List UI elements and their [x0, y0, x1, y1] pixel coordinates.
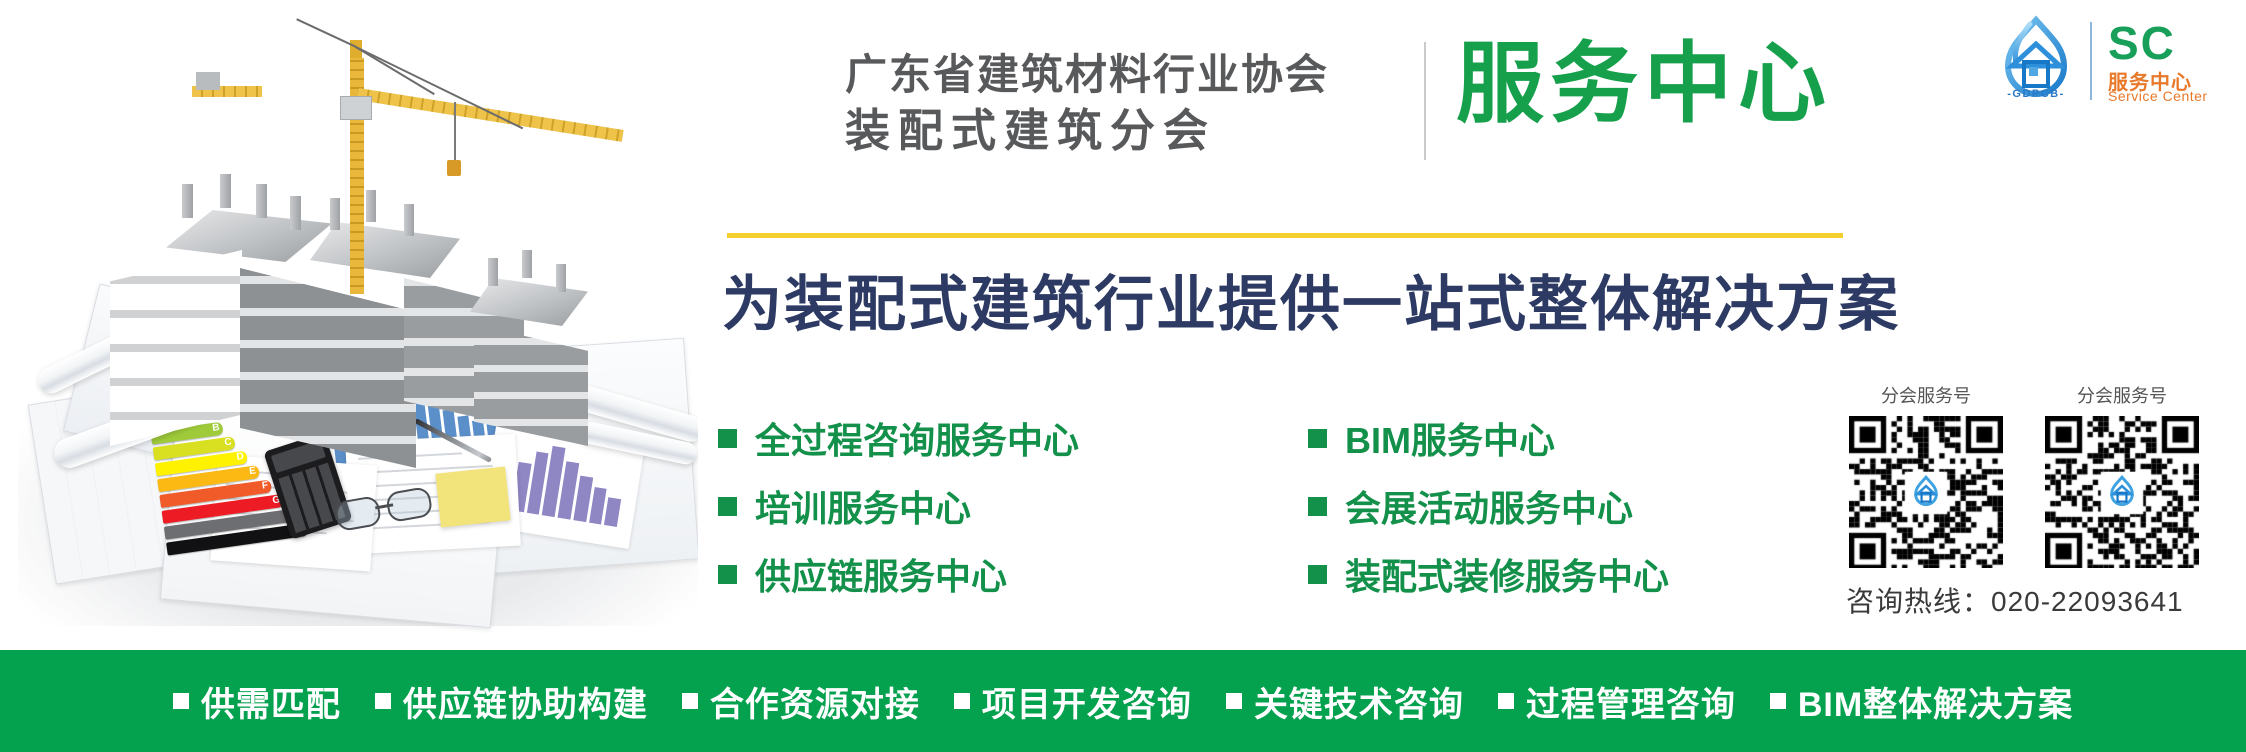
yellow-divider — [727, 233, 1843, 238]
hotline-text: 咨询热线：020-22093641 — [1846, 580, 2236, 620]
bullet-square-icon — [1498, 693, 1514, 709]
qr-code-right[interactable] — [2045, 416, 2199, 568]
tagline: 为装配式建筑行业提供一站式整体解决方案 — [722, 256, 1900, 343]
qr-caption-left: 分会服务号 — [1846, 382, 2006, 408]
energy-label-letter: E — [248, 464, 256, 478]
bottom-item-5[interactable]: 过程管理咨询 — [1498, 677, 1736, 726]
bottom-item-4[interactable]: 关键技术咨询 — [1226, 677, 1464, 726]
bottom-item-label: 关键技术咨询 — [1254, 677, 1464, 726]
crane-jib — [357, 88, 624, 142]
construction-photo: A B C D E F G H I — [18, 8, 698, 644]
bottom-item-6[interactable]: BIM整体解决方案 — [1770, 677, 2073, 726]
mini-bar — [604, 497, 621, 527]
service-item-label: BIM服务中心 — [1345, 412, 1555, 464]
qr-section: 分会服务号 分会服务号 — [1846, 382, 2236, 620]
bottom-item-2[interactable]: 合作资源对接 — [682, 677, 920, 726]
title-divider — [1424, 42, 1426, 160]
qr-code-left[interactable] — [1849, 416, 2003, 568]
bullet-square-icon — [1226, 693, 1242, 709]
bottom-item-3[interactable]: 项目开发咨询 — [954, 677, 1192, 726]
bottom-item-label: 过程管理咨询 — [1526, 677, 1736, 726]
service-item-label: 供应链服务中心 — [755, 548, 1007, 600]
sc-english-label: Service Center — [2108, 88, 2208, 104]
bottom-item-label: 项目开发咨询 — [982, 677, 1192, 726]
service-center-title: 服务中心 — [1456, 38, 1832, 130]
bullet-square-icon — [1770, 693, 1786, 709]
service-item-3[interactable]: 会展活动服务中心 — [1308, 480, 1798, 532]
qr-center-logo-icon — [2102, 472, 2142, 512]
bullet-square-icon — [718, 429, 737, 448]
service-item-4[interactable]: 供应链服务中心 — [718, 548, 1308, 600]
bullet-square-icon — [1308, 429, 1327, 448]
service-item-label: 会展活动服务中心 — [1345, 480, 1633, 532]
sticky-note — [435, 466, 510, 527]
bottom-keyword-bar: 供需匹配 供应链协助构建 合作资源对接 项目开发咨询 关键技术咨询 过程管理咨询… — [0, 650, 2246, 752]
association-title: 广东省建筑材料行业协会 装配式建筑分会 — [845, 48, 1505, 159]
qr-block-right: 分会服务号 — [2042, 382, 2202, 568]
bottom-item-label: 供应链协助构建 — [403, 677, 648, 726]
gdpcb-wordmark: -GDPCB- — [1990, 88, 2082, 100]
service-item-2[interactable]: 培训服务中心 — [718, 480, 1308, 532]
bottom-item-label: 合作资源对接 — [710, 677, 920, 726]
crane-hook — [447, 160, 461, 176]
association-line1: 广东省建筑材料行业协会 — [845, 48, 1505, 102]
logo-divider — [2090, 22, 2092, 100]
tower-crane — [254, 24, 654, 294]
brand-logo: -GDPCB- SC 服务中心 Service Center — [1990, 12, 2238, 108]
bottom-item-0[interactable]: 供需匹配 — [173, 677, 341, 726]
qr-caption-right: 分会服务号 — [2042, 382, 2202, 408]
banner-root: A B C D E F G H I — [0, 0, 2246, 752]
bullet-square-icon — [718, 497, 737, 516]
service-item-label: 培训服务中心 — [755, 480, 971, 532]
service-list: 全过程咨询服务中心 BIM服务中心 培训服务中心 会展活动服务中心 供应链服务中… — [718, 404, 1798, 608]
sc-wordmark: SC — [2108, 20, 2176, 66]
bullet-square-icon — [1308, 565, 1327, 584]
bullet-square-icon — [954, 693, 970, 709]
bottom-item-label: BIM整体解决方案 — [1798, 677, 2073, 726]
bottom-item-label: 供需匹配 — [201, 677, 341, 726]
bullet-square-icon — [173, 693, 189, 709]
service-item-1[interactable]: BIM服务中心 — [1308, 412, 1798, 464]
service-item-label: 装配式装修服务中心 — [1345, 548, 1669, 600]
service-item-5[interactable]: 装配式装修服务中心 — [1308, 548, 1798, 600]
service-item-label: 全过程咨询服务中心 — [755, 412, 1079, 464]
qr-center-logo-icon — [1906, 472, 1946, 512]
bullet-square-icon — [682, 693, 698, 709]
energy-label-letter: F — [261, 479, 269, 493]
association-line2: 装配式建筑分会 — [845, 102, 1505, 160]
bullet-square-icon — [375, 693, 391, 709]
bottom-item-1[interactable]: 供应链协助构建 — [375, 677, 648, 726]
service-item-0[interactable]: 全过程咨询服务中心 — [718, 412, 1308, 464]
bullet-square-icon — [1308, 497, 1327, 516]
energy-label-letter: D — [236, 450, 245, 464]
crane-cabin — [340, 96, 372, 120]
bullet-square-icon — [718, 565, 737, 584]
crane-hook-line — [454, 102, 456, 164]
qr-block-left: 分会服务号 — [1846, 382, 2006, 568]
